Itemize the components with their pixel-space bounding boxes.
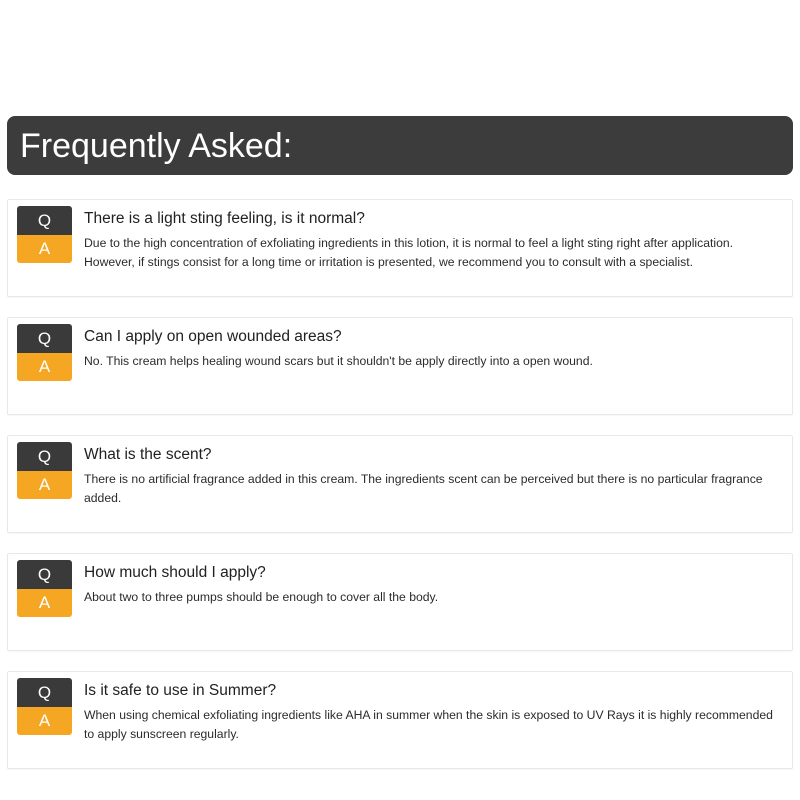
qa-badge-group: Q A xyxy=(17,678,72,735)
faq-answer: About two to three pumps should be enoug… xyxy=(84,588,782,607)
question-badge: Q xyxy=(17,206,72,235)
faq-item[interactable]: Q A How much should I apply? About two t… xyxy=(7,553,793,651)
faq-item[interactable]: Q A What is the scent? There is no artif… xyxy=(7,435,793,533)
question-badge: Q xyxy=(17,560,72,589)
faq-answer: Due to the high concentration of exfolia… xyxy=(84,234,782,272)
faq-item[interactable]: Q A Is it safe to use in Summer? When us… xyxy=(7,671,793,769)
qa-text-block: Can I apply on open wounded areas? No. T… xyxy=(84,326,782,371)
faq-question: Is it safe to use in Summer? xyxy=(84,680,782,701)
qa-text-block: Is it safe to use in Summer? When using … xyxy=(84,680,782,744)
faq-header-bar: Frequently Asked: xyxy=(7,116,793,175)
qa-badge-group: Q A xyxy=(17,206,72,263)
faq-question: Can I apply on open wounded areas? xyxy=(84,326,782,347)
faq-answer: There is no artificial fragrance added i… xyxy=(84,470,782,508)
faq-question: What is the scent? xyxy=(84,444,782,465)
faq-question: How much should I apply? xyxy=(84,562,782,583)
faq-answer: No. This cream helps healing wound scars… xyxy=(84,352,782,371)
page-title: Frequently Asked: xyxy=(20,128,292,164)
qa-text-block: How much should I apply? About two to th… xyxy=(84,562,782,607)
answer-badge: A xyxy=(17,353,72,382)
answer-badge: A xyxy=(17,589,72,618)
faq-answer: When using chemical exfoliating ingredie… xyxy=(84,706,782,744)
faq-item[interactable]: Q A There is a light sting feeling, is i… xyxy=(7,199,793,297)
question-badge: Q xyxy=(17,324,72,353)
faq-question: There is a light sting feeling, is it no… xyxy=(84,208,782,229)
faq-page: Frequently Asked: Q A There is a light s… xyxy=(0,0,800,800)
answer-badge: A xyxy=(17,707,72,736)
question-badge: Q xyxy=(17,442,72,471)
qa-badge-group: Q A xyxy=(17,324,72,381)
qa-text-block: What is the scent? There is no artificia… xyxy=(84,444,782,508)
qa-text-block: There is a light sting feeling, is it no… xyxy=(84,208,782,272)
question-badge: Q xyxy=(17,678,72,707)
answer-badge: A xyxy=(17,471,72,500)
faq-list: Q A There is a light sting feeling, is i… xyxy=(7,199,793,769)
answer-badge: A xyxy=(17,235,72,264)
qa-badge-group: Q A xyxy=(17,442,72,499)
faq-item[interactable]: Q A Can I apply on open wounded areas? N… xyxy=(7,317,793,415)
qa-badge-group: Q A xyxy=(17,560,72,617)
